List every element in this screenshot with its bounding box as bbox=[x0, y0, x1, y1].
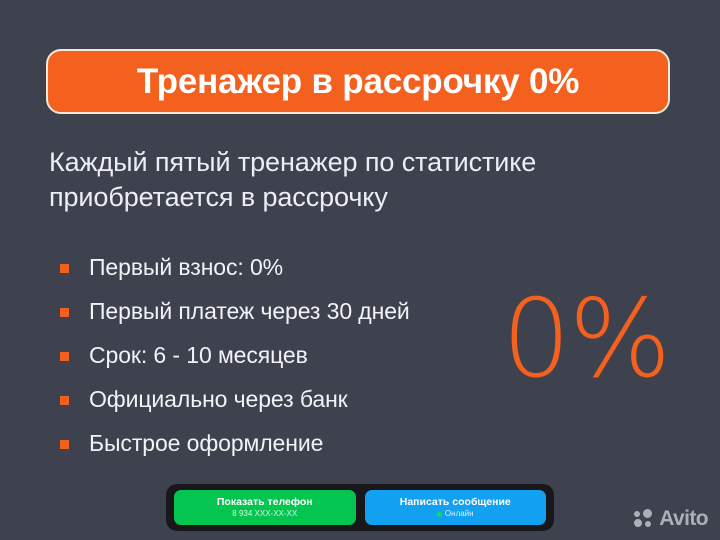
feature-label: Срок: 6 - 10 месяцев bbox=[89, 342, 308, 369]
feature-label: Официально через банк bbox=[89, 386, 348, 413]
list-item: Срок: 6 - 10 месяцев bbox=[60, 333, 410, 377]
show-phone-label: Показать телефон bbox=[217, 497, 313, 508]
list-item: Первый платеж через 30 дней bbox=[60, 289, 410, 333]
title-banner-text: Тренажер в рассрочку 0% bbox=[137, 64, 579, 99]
zero-percent-graphic: 0% bbox=[502, 286, 669, 394]
bullet-square-icon bbox=[60, 308, 69, 317]
subtitle-text: Каждый пятый тренажер по статистике прио… bbox=[49, 145, 689, 215]
title-banner: Тренажер в рассрочку 0% bbox=[46, 49, 670, 114]
bullet-square-icon bbox=[60, 352, 69, 361]
show-phone-button[interactable]: Показать телефон 8 934 XXX-XX-XX bbox=[174, 490, 356, 525]
show-phone-number: 8 934 XXX-XX-XX bbox=[232, 510, 297, 518]
bullet-square-icon bbox=[60, 396, 69, 405]
bullet-square-icon bbox=[60, 264, 69, 273]
send-message-label: Написать сообщение bbox=[400, 497, 511, 508]
send-message-button[interactable]: Написать сообщение Онлайн bbox=[365, 490, 547, 525]
online-dot-icon bbox=[437, 512, 442, 517]
avito-logo-icon bbox=[634, 509, 654, 528]
online-status: Онлайн bbox=[437, 510, 474, 518]
feature-label: Первый взнос: 0% bbox=[89, 254, 283, 281]
list-item: Первый взнос: 0% bbox=[60, 245, 410, 289]
avito-wordmark: Avito bbox=[659, 508, 708, 529]
feature-label: Первый платеж через 30 дней bbox=[89, 298, 410, 325]
online-status-label: Онлайн bbox=[445, 510, 474, 518]
feature-label: Быстрое оформление bbox=[89, 430, 323, 457]
list-item: Официально через банк bbox=[60, 377, 410, 421]
avito-watermark: Avito bbox=[634, 508, 708, 529]
feature-list: Первый взнос: 0% Первый платеж через 30 … bbox=[60, 245, 410, 465]
list-item: Быстрое оформление bbox=[60, 421, 410, 465]
action-bar: Показать телефон 8 934 XXX-XX-XX Написат… bbox=[166, 484, 554, 531]
bullet-square-icon bbox=[60, 440, 69, 449]
